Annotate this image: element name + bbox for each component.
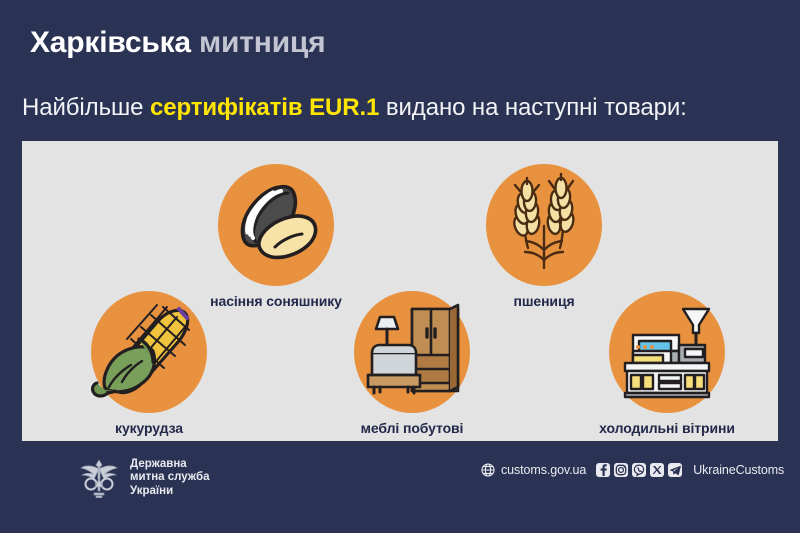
page-title: Харківська митниця: [30, 26, 325, 60]
item-furniture: меблі побутові: [337, 291, 487, 436]
furniture-icon: [354, 291, 470, 413]
telegram-icon[interactable]: [668, 463, 682, 477]
icon-disc: [218, 164, 334, 286]
item-label: меблі побутові: [337, 420, 487, 436]
item-refrigerated-display-cases: холодильні вітрини: [592, 291, 742, 436]
social-links: [596, 463, 682, 477]
item-wheat: пшениця: [469, 164, 619, 309]
facebook-icon[interactable]: [596, 463, 610, 477]
contacts: customs.gov.ua UkraineCustoms: [481, 463, 784, 477]
icon-disc: [486, 164, 602, 286]
customs-emblem-icon: [78, 457, 120, 499]
item-label: холодильні вітрини: [592, 420, 742, 436]
header: Харківська митниця Найбільше сертифікаті…: [0, 0, 800, 141]
icon-disc: [354, 291, 470, 413]
brand-line-3: України: [130, 485, 209, 499]
subtitle-highlight: сертифікатів EUR.1: [150, 94, 379, 121]
social-handle[interactable]: UkraineCustoms: [693, 463, 784, 477]
icon-disc: [609, 291, 725, 413]
instagram-icon[interactable]: [614, 463, 628, 477]
footer: Державна митна служба України customs.go…: [0, 441, 800, 533]
sunflower-seed-icon: [218, 164, 334, 286]
globe-icon: [481, 463, 495, 477]
subtitle: Найбільше сертифікатів EUR.1 видано на н…: [22, 94, 687, 122]
page-title-strong: Харківська: [30, 26, 191, 59]
refrigerated-display-case-icon: [609, 291, 725, 413]
infographic-page: Харківська митниця Найбільше сертифікаті…: [0, 0, 800, 533]
brand-text: Державна митна служба України: [130, 458, 209, 499]
website-link[interactable]: customs.gov.ua: [501, 463, 586, 477]
subtitle-after: видано на наступні товари:: [379, 94, 686, 121]
corn-icon: [91, 291, 207, 413]
item-sunflower-seeds: насіння соняшнику: [201, 164, 351, 309]
icon-disc: [91, 291, 207, 413]
brand-line-1: Державна: [130, 458, 209, 472]
brand: Державна митна служба України: [78, 457, 209, 499]
subtitle-before: Найбільше: [22, 94, 150, 121]
page-title-soft: митниця: [191, 26, 326, 59]
viber-icon[interactable]: [632, 463, 646, 477]
item-corn: кукурудза: [74, 291, 224, 436]
wheat-icon: [486, 164, 602, 286]
item-label: кукурудза: [74, 420, 224, 436]
items-panel: насіння соняшнику: [22, 141, 778, 441]
brand-line-2: митна служба: [130, 471, 209, 485]
x-twitter-icon[interactable]: [650, 463, 664, 477]
